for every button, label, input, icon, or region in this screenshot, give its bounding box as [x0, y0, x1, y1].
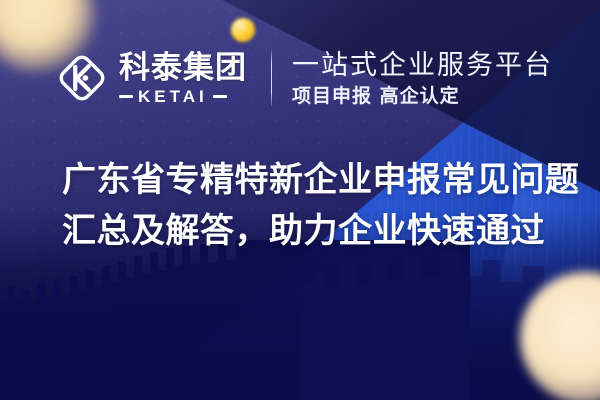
- headline-block: 广东省专精特新企业申报常见问题 汇总及解答，助力企业快速通过: [62, 155, 552, 257]
- dash-right-icon: [213, 95, 227, 98]
- brand-row: 科泰集团 KETAI 一站式企业服务平台 项目申报 高企认定: [55, 42, 553, 114]
- promo-banner: 科泰集团 KETAI 一站式企业服务平台 项目申报 高企认定 广东省专精特新企业…: [0, 0, 600, 400]
- logo-name-cn: 科泰集团: [119, 52, 247, 83]
- ketai-diamond-k-logo-icon: [55, 51, 109, 105]
- tagline-sub: 项目申报 高企认定: [292, 87, 553, 106]
- logo-wordmark: 科泰集团 KETAI: [119, 52, 247, 105]
- gold-sphere-icon: [231, 18, 255, 42]
- logo-name-en: KETAI: [138, 88, 208, 105]
- headline-line-2: 汇总及解答，助力企业快速通过: [62, 206, 552, 257]
- tagline-main: 一站式企业服务平台: [292, 50, 553, 80]
- dash-left-icon: [119, 95, 133, 98]
- logo-name-en-row: KETAI: [119, 88, 247, 105]
- tagline-block: 一站式企业服务平台 项目申报 高企认定: [292, 50, 553, 106]
- headline-line-1: 广东省专精特新企业申报常见问题: [62, 155, 552, 206]
- vertical-divider: [271, 50, 272, 106]
